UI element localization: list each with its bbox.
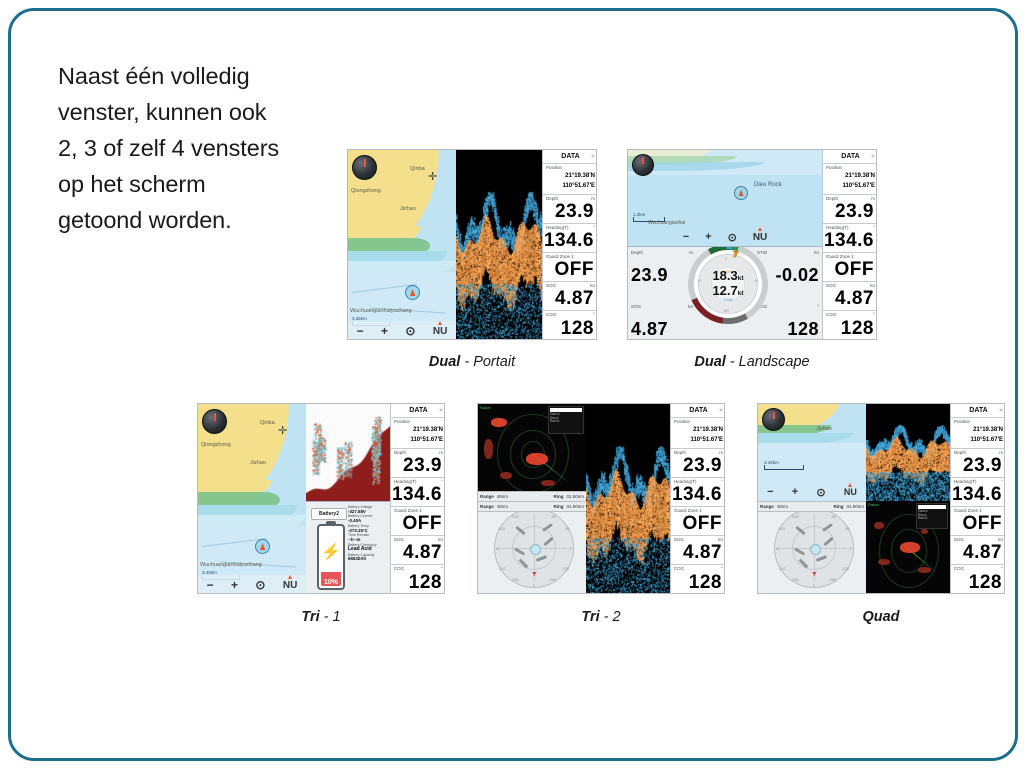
data-cell-position: Position 21°19.38'N 110°51.67'E xyxy=(391,418,445,449)
pane-data[interactable]: DATA × Position 21°19.38'N 110°51.67'E D… xyxy=(950,404,1005,594)
data-cell-position: Position 21°19.38'N 110°51.67'E xyxy=(543,164,597,195)
data-cell-cog: COG ° 128 xyxy=(671,565,725,594)
device-screen-dual-landscape[interactable]: Dieu Rock Wuchuangianhai 1.2km − + ⊙ NU … xyxy=(627,149,877,340)
zoom-in-icon[interactable]: + xyxy=(792,486,798,498)
data-cell-heading: Heading(T) ° 134.6 xyxy=(391,478,445,507)
sky-dial-center xyxy=(530,544,541,555)
figure-quad: Jizhao 3.45km − + ⊙ NU 23.9m xyxy=(757,403,1005,633)
pane-satellite-sky[interactable]: ▼ N E S W 330 300 210 180 150 120 60 30 xyxy=(478,501,586,594)
battery-icon: ⚡ 10% xyxy=(317,524,345,590)
data-cell-heading: Heading(T) ° 134.6 xyxy=(823,224,877,253)
place-label: Dieu Rock xyxy=(754,182,782,188)
pane-chart[interactable]: ✛ Qinba Qiongzhong Jizhao Wuchuangianhai… xyxy=(198,404,306,594)
data-cell-value: OFF xyxy=(963,514,1003,533)
data-cell-guard-zone: Guard Zone 1 OFF xyxy=(951,507,1005,536)
data-cell-sog: SOG kn 4.87 xyxy=(951,536,1005,565)
instr-label: SOG xyxy=(631,304,641,309)
battery-field-value: 65532Ah xyxy=(348,557,390,562)
device-screen-dual-portrait[interactable]: ✛ Qinba Qiongzhong Jizhao Wuchuangianhai… xyxy=(347,149,597,340)
radar-target xyxy=(491,418,507,427)
sonar-echogram xyxy=(866,404,950,501)
pane-sonar[interactable]: 23.9m xyxy=(306,404,390,501)
sky-bearing-label: 330 xyxy=(792,514,799,519)
scale-bar-line xyxy=(633,217,665,222)
battery-field: Time Remain --h--m xyxy=(348,534,390,542)
pane-chart[interactable]: Jizhao 3.45km − + ⊙ NU xyxy=(758,404,866,501)
compass-rose-icon xyxy=(352,155,377,180)
pane-instrument[interactable]: Depth m 23.9 STW kn -0.02 SOG kn 4.87 CO… xyxy=(628,246,822,340)
center-vessel-icon[interactable]: ⊙ xyxy=(255,578,265,592)
map-control-bar[interactable]: − + ⊙ NU xyxy=(198,575,306,594)
sky-bearing-label: 30 xyxy=(831,514,835,519)
zoom-in-icon[interactable]: + xyxy=(381,324,388,338)
data-cell-label: COG xyxy=(954,566,964,571)
data-cell-depth: Depth m 23.9 xyxy=(543,195,597,224)
place-label: Qinba xyxy=(410,166,425,172)
data-cell-guard-zone: Guard Zone 1 OFF xyxy=(391,507,445,536)
pane-sonar[interactable]: 23.9m xyxy=(586,404,670,594)
data-cell-sog: SOG kn 4.87 xyxy=(671,536,725,565)
position-lon: 110°51.67'E xyxy=(970,437,1003,443)
radar-target xyxy=(526,453,548,465)
radar-range-readout: Range48nm xyxy=(480,492,508,501)
data-cell-label: Position xyxy=(546,165,562,170)
data-cell-depth: Depth m 23.9 xyxy=(671,449,725,478)
sky-status-bar: Range48nm Ring01.50nm xyxy=(478,502,586,512)
data-cell-value: 23.9 xyxy=(555,202,594,221)
caption-rest: - Portait xyxy=(460,354,515,370)
data-cell-value: 134.6 xyxy=(392,485,442,504)
radar-info-box: Gain A Sea A Rain A xyxy=(548,406,584,434)
instr-quadrant-depth: Depth m 23.9 xyxy=(631,250,693,284)
data-cell-value: 128 xyxy=(409,573,442,592)
caption-bold: Dual xyxy=(694,354,725,370)
radar-target xyxy=(874,522,884,529)
sky-bearing-label: 300 xyxy=(498,526,505,531)
radar-range-label: Range xyxy=(480,494,494,499)
gauge-tick-label: 180 xyxy=(723,309,729,313)
data-cell-unit: ° xyxy=(593,312,595,317)
pane-radar[interactable]: Radar Gain A Sea A Rain A xyxy=(866,501,950,594)
sonar-echogram xyxy=(586,404,670,594)
gauge-tws-value: 12.7 xyxy=(712,283,737,298)
caption-dual-landscape: Dual - Landscape xyxy=(627,354,877,370)
gauge-aws-unit: kt xyxy=(738,275,744,282)
sky-bearing-label: 60 xyxy=(565,526,569,531)
battery-field-list: Battery Voltage -327.68V Battery Current… xyxy=(348,506,390,562)
position-lat: 21°19.38'N xyxy=(413,427,443,433)
place-label: Wuchuangianhaiyuchang xyxy=(200,562,262,568)
orientation-button[interactable]: NU xyxy=(844,487,857,497)
data-cell-value: 23.9 xyxy=(683,456,722,475)
wind-gauge[interactable]: 4 AWS TWS 18.3kt 12.7kt 0 90 90 xyxy=(688,246,768,324)
sonar-echogram xyxy=(306,404,390,501)
battery-field: Battery Voltage -327.68V xyxy=(348,506,390,514)
caption-bold: Tri xyxy=(301,609,319,625)
radar-status-bar: Range48nm Ring01.50nm xyxy=(478,491,586,501)
sky-bearing-label: 180 xyxy=(792,577,799,582)
pane-sonar[interactable]: 23.9m xyxy=(456,150,542,340)
position-lat: 21°19.38'N xyxy=(565,173,595,179)
data-cell-cog: COG ° 128 xyxy=(951,565,1005,594)
data-cell-value: 134.6 xyxy=(544,231,594,250)
data-panel-title: DATA xyxy=(841,153,859,160)
sky-bearing-label: 150 xyxy=(549,577,556,582)
data-cell-value: 23.9 xyxy=(963,456,1002,475)
data-cell-value: 128 xyxy=(841,319,874,338)
data-cell-heading: Heading(T) ° 134.6 xyxy=(671,478,725,507)
pane-data[interactable]: DATA × Position 21°19.38'N 110°51.67'E D… xyxy=(670,404,725,594)
scale-bar-label: 1.2km xyxy=(633,212,645,217)
place-label: Qiongzhong xyxy=(201,442,231,448)
sky-range-label: Range xyxy=(760,504,774,509)
figure-dual-portrait: ✛ Qinba Qiongzhong Jizhao Wuchuangianhai… xyxy=(347,149,597,379)
sky-bearing-label: 330 xyxy=(512,514,519,519)
data-cell-value: 128 xyxy=(561,319,594,338)
data-cell-position: Position 21°19.38'N 110°51.67'E xyxy=(671,418,725,449)
caption-bold: Tri xyxy=(581,609,599,625)
sonar-echogram xyxy=(456,150,542,340)
gauge-tws-unit: kt xyxy=(738,290,744,297)
data-cell-value: OFF xyxy=(403,514,443,533)
data-cell-depth: Depth m 23.9 xyxy=(391,449,445,478)
page-title: Naast één volledig venster, kunnen ook 2… xyxy=(58,58,348,238)
data-panel-header: DATA × xyxy=(391,404,445,418)
pane-battery[interactable]: Battery2 ⚡ 10% Battery Voltage -327.68V … xyxy=(306,501,390,594)
battery-field: Battery Current -0.40A xyxy=(348,515,390,523)
sky-ring-readout: Ring01.50nm xyxy=(553,502,584,511)
sky-cardinal-w: W xyxy=(496,546,500,551)
data-cell-sog: SOG kn 4.87 xyxy=(823,282,877,311)
position-lon: 110°51.67'E xyxy=(410,437,443,443)
battery-tag: Battery2 xyxy=(311,508,347,520)
position-lat: 21°19.38'N xyxy=(693,427,723,433)
sky-ring-label: Ring xyxy=(833,504,843,509)
data-panel-title: DATA xyxy=(561,153,579,160)
radar-target xyxy=(500,472,512,479)
place-label: Qiongzhong xyxy=(351,188,381,194)
gauge-tick-label: 90 xyxy=(755,279,759,283)
data-panel-header: DATA × xyxy=(543,150,597,164)
pane-data[interactable]: DATA × Position 21°19.38'N 110°51.67'E D… xyxy=(542,150,597,340)
data-cell-guard-zone: Guard Zone 1 OFF xyxy=(823,253,877,282)
pane-sonar[interactable]: 23.9m xyxy=(866,404,950,501)
sky-dial: ▼ N E S W 330 300 210 180 150 120 60 30 xyxy=(494,508,574,588)
sky-ring-label: Ring xyxy=(553,504,563,509)
position-lon: 110°51.67'E xyxy=(842,183,875,189)
sky-ring-value: 01.50nm xyxy=(846,504,864,509)
sky-range-value: 48nm xyxy=(777,504,788,509)
sky-bearing-label: 180 xyxy=(512,577,519,582)
radar-info-line: Rain A xyxy=(917,517,947,521)
data-panel-title: DATA xyxy=(409,407,427,414)
battery-field: Battery Chemistry Lead Acid xyxy=(348,544,390,553)
figure-tri-2: Radar Gain A Sea A Rain A xyxy=(477,403,725,633)
figure-dual-landscape: Dieu Rock Wuchuangianhai 1.2km − + ⊙ NU … xyxy=(627,149,877,379)
data-panel-title: DATA xyxy=(969,407,987,414)
battery-cap xyxy=(326,521,336,525)
close-icon[interactable]: × xyxy=(591,150,595,163)
sky-bearing-label: 120 xyxy=(562,566,569,571)
gauge-tick-label: 90 xyxy=(698,279,702,283)
map-control-bar[interactable]: − + ⊙ NU xyxy=(348,321,456,340)
sky-bearing-label: 120 xyxy=(842,566,849,571)
data-cell-value: 4.87 xyxy=(555,289,594,308)
pane-satellite-sky[interactable]: ▼ N E S W 330 300 210 180 150 120 60 30 xyxy=(758,501,866,594)
sky-range-label: Range xyxy=(480,504,494,509)
radar-ring-value: 01.50nm xyxy=(566,494,584,499)
gauge-aws-readout: 18.3kt xyxy=(712,269,743,284)
data-cell-label: Position xyxy=(394,419,410,424)
sky-bearing-label: 210 xyxy=(779,566,786,571)
headline-line-1: Naast één volledig xyxy=(58,58,348,94)
data-cell-sog: SOG kn 4.87 xyxy=(543,282,597,311)
data-panel-header: DATA × xyxy=(823,150,877,164)
headline-line-4: op het scherm xyxy=(58,166,348,202)
data-cell-label: COG xyxy=(826,312,836,317)
instr-value: 4.87 xyxy=(631,320,668,338)
data-cell-value: 23.9 xyxy=(403,456,442,475)
data-cell-label: Position xyxy=(826,165,842,170)
sky-range-value: 48nm xyxy=(497,504,508,509)
own-vessel-icon xyxy=(405,285,420,300)
data-panel-header: DATA × xyxy=(671,404,725,418)
data-cell-position: Position 21°19.38'N 110°51.67'E xyxy=(823,164,877,195)
caption-rest: - 1 xyxy=(320,609,341,625)
radar-header-label: Radar xyxy=(868,502,879,507)
figure-tri-1: ✛ Qinba Qiongzhong Jizhao Wuchuangianhai… xyxy=(197,403,445,633)
zoom-out-icon[interactable]: − xyxy=(767,486,773,498)
instr-value: 128 xyxy=(787,320,819,338)
radar-target xyxy=(878,559,890,565)
radar-header-label: Radar xyxy=(480,405,491,410)
radar-info-line: Rain A xyxy=(549,420,583,424)
caption-quad: Quad xyxy=(757,609,1005,625)
sky-bearing-label: 210 xyxy=(499,566,506,571)
scale-bar-label: 3.45km xyxy=(764,460,779,465)
cursor-crosshair-icon: ✛ xyxy=(278,426,287,437)
data-cell-depth: Depth m 23.9 xyxy=(951,449,1005,478)
data-cell-label: Position xyxy=(954,419,970,424)
sky-ring-readout: Ring01.50nm xyxy=(833,502,864,511)
caption-rest: - 2 xyxy=(600,609,621,625)
orientation-button[interactable]: NU xyxy=(753,232,767,243)
place-label: Jizhao xyxy=(250,460,266,466)
close-icon[interactable]: × xyxy=(999,404,1003,417)
instr-value: 23.9 xyxy=(631,266,668,284)
zoom-in-icon[interactable]: + xyxy=(231,578,238,592)
pane-data[interactable]: DATA × Position 21°19.38'N 110°51.67'E D… xyxy=(822,150,877,340)
sky-bearing-label: 60 xyxy=(845,526,849,531)
center-vessel-icon[interactable]: ⊙ xyxy=(816,486,825,499)
data-cell-cog: COG ° 128 xyxy=(391,565,445,594)
data-cell-value: 4.87 xyxy=(403,543,442,562)
data-cell-depth: Depth m 23.9 xyxy=(823,195,877,224)
sky-cardinal-s: S xyxy=(532,583,535,588)
instr-value: -0.02 xyxy=(775,266,819,284)
battery-tag-label: Battery2 xyxy=(319,511,339,517)
sky-dial: ▼ N E S W 330 300 210 180 150 120 60 30 xyxy=(774,508,854,588)
cursor-crosshair-icon: ✛ xyxy=(428,172,437,183)
data-cell-position: Position 21°19.38'N 110°51.67'E xyxy=(951,418,1005,449)
headline-line-3: 2, 3 of zelf 4 vensters xyxy=(58,130,348,166)
position-lat: 21°19.38'N xyxy=(845,173,875,179)
place-label: Jizhao xyxy=(400,206,416,212)
gauge-tws-readout: 12.7kt xyxy=(712,284,743,299)
battery-field-value: Lead Acid xyxy=(348,547,390,552)
caption-rest: - Landscape xyxy=(726,354,810,370)
headline-line-5: getoond worden. xyxy=(58,202,348,238)
data-cell-sog: SOG kn 4.87 xyxy=(391,536,445,565)
sky-cardinal-e: E xyxy=(569,546,572,551)
orientation-button[interactable]: NU xyxy=(283,580,297,591)
caption-tri-1: Tri - 1 xyxy=(197,609,445,625)
data-cell-value: OFF xyxy=(555,260,595,279)
data-cell-value: OFF xyxy=(835,260,875,279)
data-cell-guard-zone: Guard Zone 1 OFF xyxy=(671,507,725,536)
charging-bolt-icon: ⚡ xyxy=(321,545,341,561)
center-vessel-icon[interactable]: ⊙ xyxy=(728,231,737,244)
pane-chart[interactable]: Dieu Rock Wuchuangianhai 1.2km − + ⊙ NU xyxy=(628,150,822,246)
place-label: Wuchuangianhaiyuchang xyxy=(350,308,412,314)
battery-field-value: --h--m xyxy=(348,538,390,543)
center-vessel-icon[interactable]: ⊙ xyxy=(405,324,415,338)
data-cell-heading: Heading(T) ° 134.6 xyxy=(543,224,597,253)
place-label: Jizhao xyxy=(816,426,832,432)
data-panel-header: DATA × xyxy=(951,404,1005,418)
radar-info-box: Gain A Sea A Rain A xyxy=(916,503,948,529)
scale-bar: 3.45km xyxy=(764,460,804,470)
data-cell-heading: Heading(T) ° 134.6 xyxy=(951,478,1005,507)
sky-bearing-label: 150 xyxy=(829,577,836,582)
heading-arrow-icon: ▼ xyxy=(531,571,538,578)
gauge-tick-label: 0 xyxy=(725,257,727,261)
radar-target xyxy=(484,439,493,459)
zoom-out-icon[interactable]: − xyxy=(207,578,214,592)
battery-percent: 10% xyxy=(319,579,343,586)
data-cell-unit: ° xyxy=(873,312,875,317)
zoom-out-icon[interactable]: − xyxy=(683,231,689,243)
position-lat: 21°19.38'N xyxy=(973,427,1003,433)
data-cell-value: 4.87 xyxy=(835,289,874,308)
map-control-bar[interactable]: − + ⊙ NU xyxy=(628,228,822,246)
data-cell-label: COG xyxy=(394,566,404,571)
close-icon[interactable]: × xyxy=(871,150,875,163)
instr-unit: kn xyxy=(814,250,819,255)
data-cell-guard-zone: Guard Zone 1 OFF xyxy=(543,253,597,282)
data-panel-title: DATA xyxy=(689,407,707,414)
data-cell-value: 128 xyxy=(689,573,722,592)
pane-chart[interactable]: ✛ Qinba Qiongzhong Jizhao Wuchuangianhai… xyxy=(348,150,456,340)
sky-cardinal-e: E xyxy=(849,546,852,551)
battery-field: Battery Capacity 65532Ah xyxy=(348,554,390,562)
sky-status-bar: Range48nm Ring01.50nm xyxy=(758,502,866,512)
data-cell-cog: COG ° 128 xyxy=(823,311,877,340)
place-label: Qinba xyxy=(260,420,275,426)
map-control-bar[interactable]: − + ⊙ NU xyxy=(758,483,866,501)
caption-tri-2: Tri - 2 xyxy=(477,609,725,625)
compass-rose-icon xyxy=(762,408,785,431)
scale-bar-line xyxy=(764,465,804,470)
instr-label: Depth xyxy=(631,250,643,255)
slide-frame: Naast één volledig venster, kunnen ook 2… xyxy=(8,8,1018,761)
sky-range-readout: Range48nm xyxy=(760,502,788,511)
compass-rose-icon xyxy=(202,409,227,434)
data-cell-value: 134.6 xyxy=(824,231,874,250)
gauge-aws-value: 18.3 xyxy=(712,268,737,283)
radar-target xyxy=(541,480,555,486)
data-cell-value: 134.6 xyxy=(952,485,1002,504)
sky-cardinal-s: S xyxy=(812,583,815,588)
pane-data[interactable]: DATA × Position 21°19.38'N 110°51.67'E D… xyxy=(390,404,445,594)
instr-quadrant-sog: SOG kn 4.87 xyxy=(631,304,693,338)
device-screen-quad[interactable]: Jizhao 3.45km − + ⊙ NU 23.9m xyxy=(757,403,1005,594)
heading-arrow-icon: ▼ xyxy=(811,571,818,578)
data-cell-value: OFF xyxy=(683,514,723,533)
scale-bar: 1.2km xyxy=(633,212,665,222)
sky-bearing-label: 30 xyxy=(551,514,555,519)
close-icon[interactable]: × xyxy=(439,404,443,417)
close-icon[interactable]: × xyxy=(719,404,723,417)
zoom-out-icon[interactable]: − xyxy=(357,324,364,338)
device-screen-tri-2[interactable]: Radar Gain A Sea A Rain A xyxy=(477,403,725,594)
sky-range-readout: Range48nm xyxy=(480,502,508,511)
pane-radar[interactable]: Radar Gain A Sea A Rain A xyxy=(478,404,586,501)
data-cell-unit: ° xyxy=(721,566,723,571)
position-lon: 110°51.67'E xyxy=(690,437,723,443)
caption-dual-portrait: Dual - Portait xyxy=(347,354,597,370)
caption-bold: Dual xyxy=(429,354,460,370)
position-lon: 110°51.67'E xyxy=(562,183,595,189)
radar-target xyxy=(918,567,931,573)
sky-bearing-label: 300 xyxy=(778,526,785,531)
own-vessel-icon xyxy=(255,539,270,554)
sky-cardinal-w: W xyxy=(776,546,780,551)
sky-dial-center xyxy=(810,544,821,555)
radar-ring-readout: Ring01.50nm xyxy=(553,492,584,501)
sky-ring-value: 01.50nm xyxy=(566,504,584,509)
headline-line-2: venster, kunnen ook xyxy=(58,94,348,130)
data-cell-value: 23.9 xyxy=(835,202,874,221)
zoom-in-icon[interactable]: + xyxy=(705,231,711,243)
data-cell-unit: ° xyxy=(441,566,443,571)
radar-target xyxy=(900,542,920,553)
device-screen-tri-1[interactable]: ✛ Qinba Qiongzhong Jizhao Wuchuangianhai… xyxy=(197,403,445,594)
instr-unit: ° xyxy=(817,304,819,309)
radar-range-value: 48nm xyxy=(497,494,508,499)
data-cell-value: 4.87 xyxy=(683,543,722,562)
caption-bold: Quad xyxy=(862,609,899,625)
data-cell-label: COG xyxy=(674,566,684,571)
battery-field: Battery Temp -273.15°C xyxy=(348,525,390,533)
data-cell-cog: COG ° 128 xyxy=(543,311,597,340)
data-cell-value: 128 xyxy=(969,573,1002,592)
data-cell-unit: ° xyxy=(1001,566,1003,571)
data-cell-value: 134.6 xyxy=(672,485,722,504)
data-cell-label: Position xyxy=(674,419,690,424)
data-cell-value: 4.87 xyxy=(963,543,1002,562)
radar-ring-label: Ring xyxy=(553,494,563,499)
orientation-button[interactable]: NU xyxy=(433,326,447,337)
own-vessel-icon xyxy=(734,186,748,200)
compass-rose-icon xyxy=(632,154,654,176)
data-cell-label: COG xyxy=(546,312,556,317)
